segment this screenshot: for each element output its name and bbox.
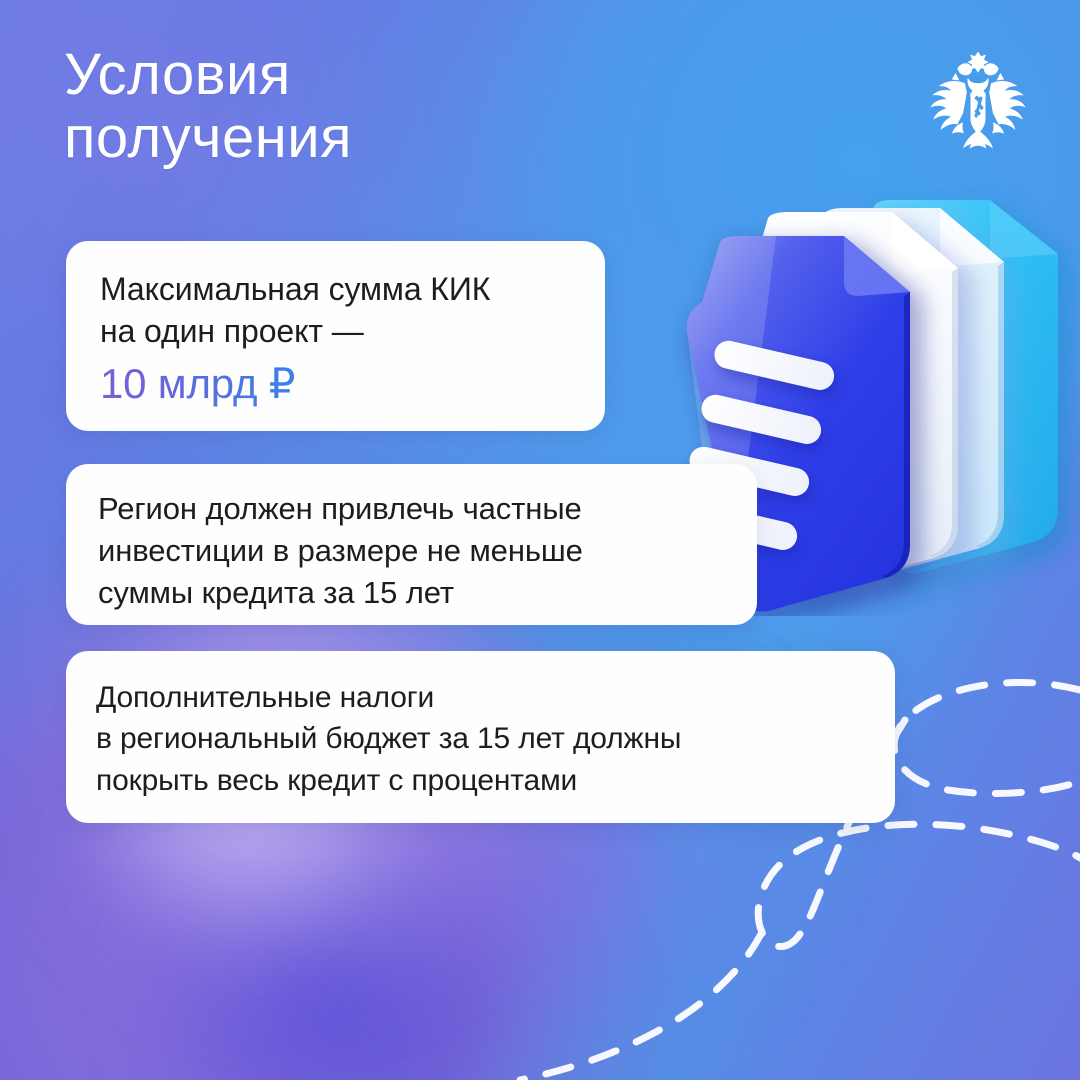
condition-card-text: Дополнительные налоги в региональный бюд… — [96, 677, 865, 801]
page-title: Условия получения — [64, 44, 352, 169]
condition-card-highlight-amount: 10 млрд ₽ — [100, 360, 295, 407]
background-blob-deep-blue — [120, 780, 540, 1080]
condition-card-additional-taxes: Дополнительные налоги в региональный бюд… — [66, 651, 895, 823]
russian-coat-of-arms-icon — [922, 44, 1034, 156]
condition-card-max-amount: Максимальная сумма КИК на один проект — … — [66, 241, 605, 431]
condition-card-text: Максимальная сумма КИК на один проект — — [100, 269, 571, 352]
infographic-poster: Условия получения — [0, 0, 1080, 1080]
condition-card-text: Регион должен привлечь частные инвестици… — [98, 488, 725, 614]
condition-card-private-investment: Регион должен привлечь частные инвестици… — [66, 464, 757, 625]
